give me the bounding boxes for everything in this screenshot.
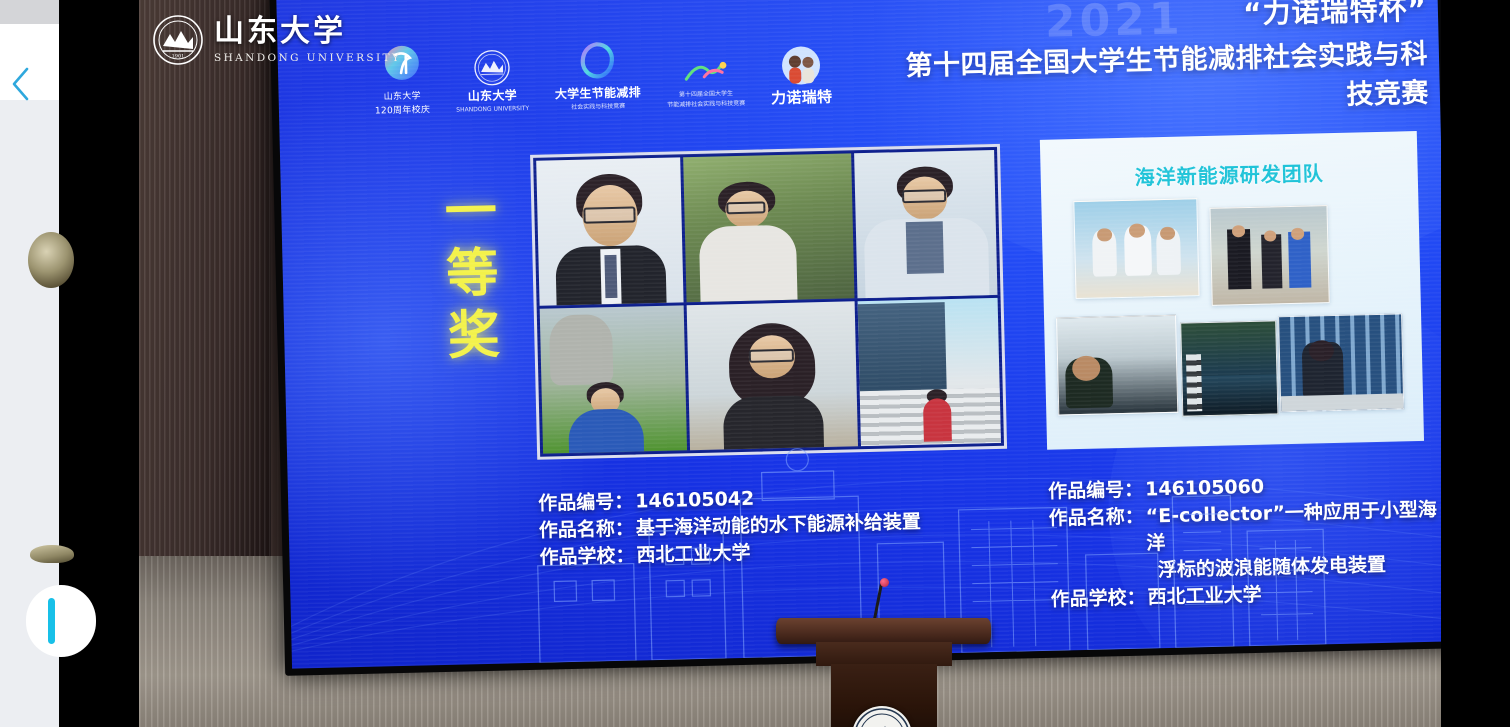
sponsor-logo-sdu: 山东大学 SHANDONG UNIVERSITY xyxy=(455,48,529,114)
sponsor-label-line2: 节能减排社会实践与科技竞赛 xyxy=(667,101,745,110)
sponsor-label-line1: 山东大学 xyxy=(468,90,518,105)
sponsor-label-line1: 大学生节能减排 xyxy=(555,87,641,103)
team-member-photo xyxy=(857,298,1001,446)
podium-top xyxy=(776,618,991,644)
lectern-podium xyxy=(776,608,991,727)
list-item-thumbnail[interactable] xyxy=(30,545,74,563)
shandong-university-watermark: 1901 山东大学 SHANDONG UNIVERSITY xyxy=(152,14,401,66)
sponsor-label-line1: 第十四届全国大学生 xyxy=(679,91,733,99)
list-item-thumbnail[interactable] xyxy=(28,232,74,288)
slide-title-block: “力诺瑞特杯” 第十四届全国大学生节能减排社会实践与科技竞赛 xyxy=(897,0,1430,122)
sponsor-label-line2: SHANDONG UNIVERSITY xyxy=(456,106,529,115)
sponsor-logo-fourteenth: 第十四届全国大学生 节能减排社会实践与科技竞赛 xyxy=(666,54,745,110)
microphone-head-icon xyxy=(880,578,889,587)
sponsor-label-line2: 社会实践与科技竞赛 xyxy=(571,104,625,112)
activity-photo xyxy=(1209,205,1329,306)
activity-photo xyxy=(1056,315,1178,416)
sponsor-logo-row: 山东大学 120周年校庆 山东大学 SHANDONG UNIVERSITY xyxy=(373,11,935,116)
watermark-name-en: SHANDONG UNIVERSITY xyxy=(214,52,401,64)
svg-text:1901: 1901 xyxy=(172,54,185,60)
screenshot-root: 山东大学 120周年校庆 山东大学 SHANDONG UNIVERSITY xyxy=(0,0,1510,727)
wall-panel-left-texture xyxy=(139,0,271,640)
team-member-photo xyxy=(536,157,684,305)
shandong-university-seal-icon: 1901 xyxy=(152,14,204,66)
podium-neck xyxy=(816,642,952,666)
energy-saving-contest-logo xyxy=(574,38,621,85)
auditorium-photo: 山东大学 120周年校庆 山东大学 SHANDONG UNIVERSITY xyxy=(139,0,1441,727)
presentation-screen: 山东大学 120周年校庆 山东大学 SHANDONG UNIVERSITY xyxy=(269,0,1441,676)
activity-photo xyxy=(1180,320,1278,416)
shandong-university-logo xyxy=(472,49,511,88)
slide-canvas: 山东大学 120周年校庆 山东大学 SHANDONG UNIVERSITY xyxy=(276,0,1441,669)
watermark-name-cn: 山东大学 xyxy=(214,17,401,47)
page-subtitle: 第十四届全国大学生节能减排社会实践与科技竞赛 xyxy=(898,32,1430,122)
linuo-paradigma-logo xyxy=(779,44,822,87)
activity-photo xyxy=(1278,313,1404,412)
mobile-app-sidebar xyxy=(0,0,59,727)
app-navigation-bar[interactable] xyxy=(0,24,59,100)
award-label: 一等奖 xyxy=(421,183,497,371)
fourteenth-competition-logo xyxy=(678,54,733,89)
sponsor-logo-linuo: 力诺瑞特 xyxy=(770,44,833,108)
floating-card[interactable] xyxy=(26,585,96,657)
accent-bar xyxy=(48,598,55,644)
watermark-text: 山东大学 SHANDONG UNIVERSITY xyxy=(214,17,401,64)
sponsor-label-line1: 力诺瑞特 xyxy=(771,89,833,108)
team-member-photo xyxy=(687,301,858,450)
team-member-photo-grid xyxy=(530,144,1007,460)
team-member-photo xyxy=(854,150,998,298)
back-chevron-icon[interactable] xyxy=(8,64,34,104)
team-member-photo xyxy=(684,153,855,302)
team-member-photo xyxy=(540,305,688,453)
status-bar xyxy=(0,0,59,24)
sponsor-label-line1: 山东大学 xyxy=(384,92,421,103)
sponsor-logo-energy-contest: 大学生节能减排 社会实践与科技竞赛 xyxy=(554,38,642,113)
activity-photo xyxy=(1073,198,1199,299)
letterbox-bar-right xyxy=(1441,0,1510,727)
team-activity-photo-collage: 海洋新能源研发团队 xyxy=(1040,131,1424,450)
team-name-label: 海洋新能源研发团队 xyxy=(1040,155,1418,193)
sponsor-label-line2: 120周年校庆 xyxy=(375,105,431,117)
